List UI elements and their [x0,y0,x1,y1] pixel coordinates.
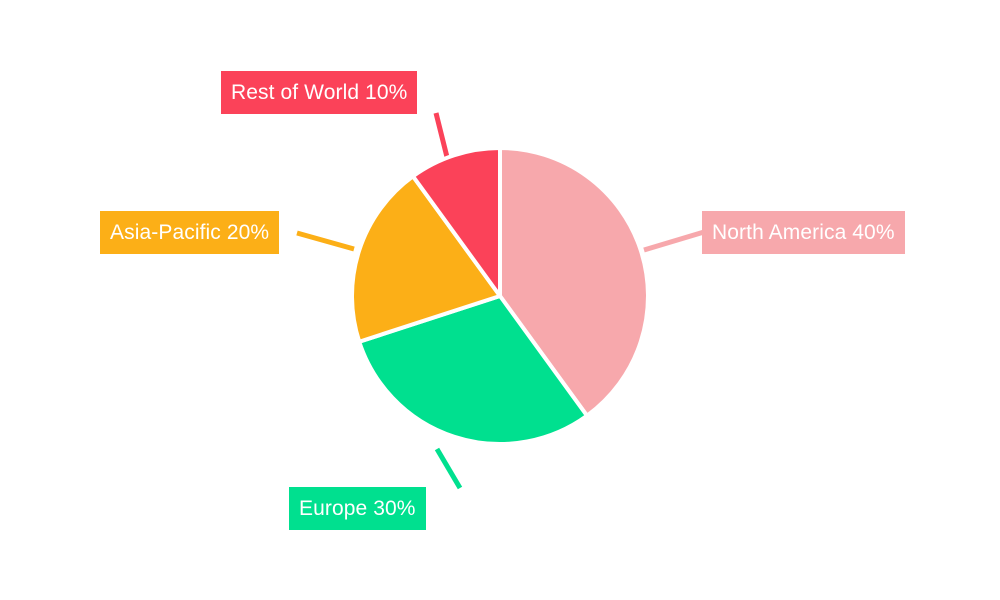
pie-label-rest-of-world[interactable]: Rest of World 10% [221,71,417,114]
pie-label-rest-of-world-text: Rest of World 10% [231,82,407,103]
pie-label-north-america-text: North America 40% [712,222,895,243]
leader-line-north-america [644,232,704,250]
pie-label-europe-text: Europe 30% [299,498,416,519]
pie-chart-canvas [0,0,1000,600]
pie-chart-figure: North America 40% Europe 30% Asia-Pacifi… [0,0,1000,600]
pie-label-europe[interactable]: Europe 30% [289,487,426,530]
pie-slices [352,148,648,444]
pie-label-asia-pacific-text: Asia-Pacific 20% [110,222,269,243]
leader-line-asia-pacific [297,233,354,249]
pie-label-asia-pacific[interactable]: Asia-Pacific 20% [100,211,279,254]
pie-label-north-america[interactable]: North America 40% [702,211,905,254]
leader-line-europe [437,449,460,488]
